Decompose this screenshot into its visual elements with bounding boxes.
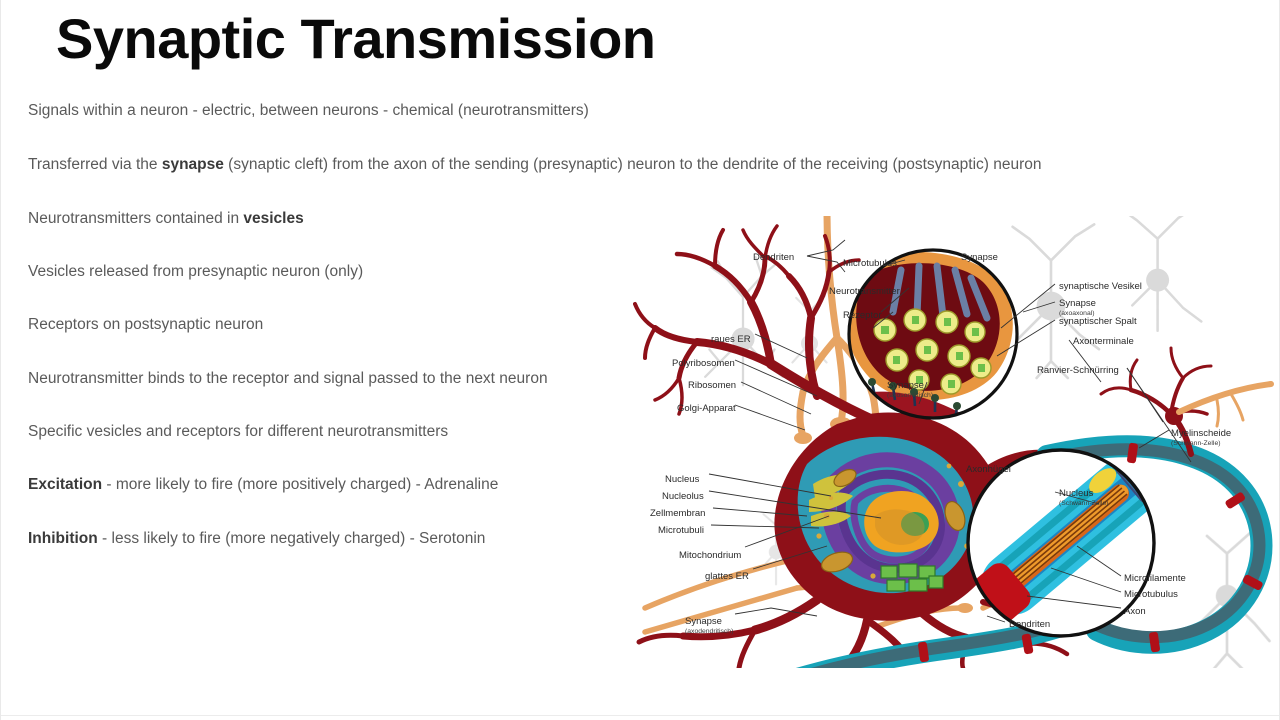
diagram-label-nucleus_soma: Nucleus: [665, 474, 699, 485]
label-text: Golgi-Apparat: [677, 403, 736, 414]
bullet-text: Specific vesicles and receptors for diff…: [28, 423, 448, 440]
diagram-label-axonhuegel: Axonhügel: [966, 464, 1011, 475]
bullet-6: Neurotransmitter binds to the receptor a…: [28, 369, 548, 389]
bullet-3: Neurotransmitters contained in vesicles: [28, 209, 304, 229]
diagram-label-glattes_er: glattes ER: [705, 571, 749, 582]
diagram-label-ranvier: Ranvier-Schnürring: [1037, 365, 1119, 376]
diagram-label-ribosomen: Ribosomen: [688, 380, 736, 391]
diagram-label-synapse_inset: Synapse: [961, 252, 998, 263]
diagram-label-axon: Axon: [1124, 606, 1146, 617]
diagram-label-zellmembran: Zellmembran: [650, 508, 705, 519]
bullet-text: Neurotransmitter binds to the receptor a…: [28, 370, 548, 387]
bullet-5: Receptors on postsynaptic neuron: [28, 315, 263, 335]
bullet-text: Receptors on postsynaptic neuron: [28, 316, 263, 333]
label-text: Polyribosomen: [672, 358, 735, 369]
terminal-orange-branch: [1217, 394, 1243, 426]
bullet-emphasis: synapse: [162, 156, 224, 173]
bullet-2: Transferred via the synapse (synaptic cl…: [28, 155, 1042, 175]
diagram-label-dendriten_top: Dendriten: [753, 252, 794, 263]
bullet-emphasis: Excitation: [28, 476, 102, 493]
page-title: Synaptic Transmission: [56, 8, 655, 70]
bullet-9: Inhibition - less likely to fire (more n…: [28, 529, 485, 549]
bullet-text: Transferred via the: [28, 156, 162, 173]
bullet-4: Vesicles released from presynaptic neuro…: [28, 262, 363, 282]
diagram-label-axonterminale: Axonterminale: [1073, 336, 1134, 347]
label-text: Nucleolus: [662, 491, 704, 502]
label-text: Ribosomen: [688, 380, 736, 391]
label-text: Synapse: [961, 252, 998, 263]
slide-canvas: Synaptic Transmission Signals within a n…: [0, 0, 1280, 720]
diagram-label-myelin_axon: Myelinscheide(Schwann-Zelle): [1171, 428, 1231, 449]
diagram-label-polyribosomen: Polyribosomen: [672, 358, 735, 369]
bullet-text: Neurotransmitters contained in: [28, 210, 243, 227]
diagram-label-microtubulus_in: Microtubulus: [1124, 589, 1178, 600]
diagram-label-microtubuli: Microtubuli: [658, 525, 704, 536]
label-text: Microtubuli: [658, 525, 704, 536]
label-text: Microtubulus: [1124, 589, 1178, 600]
diagram-label-rezeptor: Rezeptor: [843, 310, 882, 321]
bullet-8: Excitation - more likely to fire (more p…: [28, 475, 498, 495]
bullet-text: Signals within a neuron - electric, betw…: [28, 102, 589, 119]
label-text: Microtubulus: [843, 258, 897, 269]
label-text: Axon: [1124, 606, 1146, 617]
diagram-label-golgi: Golgi-Apparat: [677, 403, 736, 414]
label-text: Rezeptor: [843, 310, 882, 321]
bullet-emphasis: vesicles: [243, 210, 303, 227]
diagram-label-syn_vesikel: synaptische Vesikel: [1059, 281, 1142, 292]
bullet-text: - more likely to fire (more positively c…: [102, 476, 498, 493]
bullet-7: Specific vesicles and receptors for diff…: [28, 422, 448, 442]
label-text: Axonhügel: [966, 464, 1011, 475]
terminal-orange-fiber: [1179, 384, 1271, 412]
label-text: Nucleus: [665, 474, 699, 485]
label-text: synaptische Vesikel: [1059, 281, 1142, 292]
label-text: Mitochondrium: [679, 550, 741, 561]
diagram-label-nucleus_schwann: Nucleus(Schwann-Zelle): [1059, 488, 1108, 509]
label-text: Dendriten: [1009, 619, 1050, 630]
neuron-diagram: Dendritenraues ERPolyribosomenRibosomenG…: [631, 216, 1276, 668]
label-sublabel: (axodendritisch): [685, 626, 733, 637]
golgi-green-stack: [881, 564, 943, 591]
diagram-label-mitochondrium: Mitochondrium: [679, 550, 741, 561]
diagram-label-raues_er: raues ER: [711, 334, 751, 345]
label-text: raues ER: [711, 334, 751, 345]
diagram-label-syn_spalt: synaptischer Spalt: [1059, 316, 1137, 327]
diagram-label-synapse_axodend: Synapse(axodendritisch): [685, 616, 733, 637]
label-text: Neurotransmitter: [829, 286, 900, 297]
label-text: Axonterminale: [1073, 336, 1134, 347]
bullet-text: (synaptic cleft) from the axon of the se…: [224, 156, 1042, 173]
diagram-label-dendriten_bot: Dendriten: [1009, 619, 1050, 630]
label-text: Ranvier-Schnürring: [1037, 365, 1119, 376]
label-text: Dendriten: [753, 252, 794, 263]
label-text: Microfilamente: [1124, 573, 1186, 584]
diagram-label-microfilamente: Microfilamente: [1124, 573, 1186, 584]
bullet-text: - less likely to fire (more negatively c…: [98, 530, 486, 547]
diagram-label-synapse_axosom: Synapse(axosomatisch): [887, 380, 933, 401]
diagram-label-neurotransmitter: Neurotransmitter: [829, 286, 900, 297]
diagram-label-microtubulus_top: Microtubulus: [843, 258, 897, 269]
bullet-emphasis: Inhibition: [28, 530, 98, 547]
label-text: Zellmembran: [650, 508, 705, 519]
label-sublabel: (Schwann-Zelle): [1171, 438, 1231, 449]
label-text: glattes ER: [705, 571, 749, 582]
label-sublabel: (axosomatisch): [887, 390, 933, 401]
bullet-1: Signals within a neuron - electric, betw…: [28, 101, 589, 121]
diagram-label-nucleolus: Nucleolus: [662, 491, 704, 502]
bullet-text: Vesicles released from presynaptic neuro…: [28, 263, 363, 280]
label-sublabel: (Schwann-Zelle): [1059, 498, 1108, 509]
label-text: synaptischer Spalt: [1059, 316, 1137, 327]
